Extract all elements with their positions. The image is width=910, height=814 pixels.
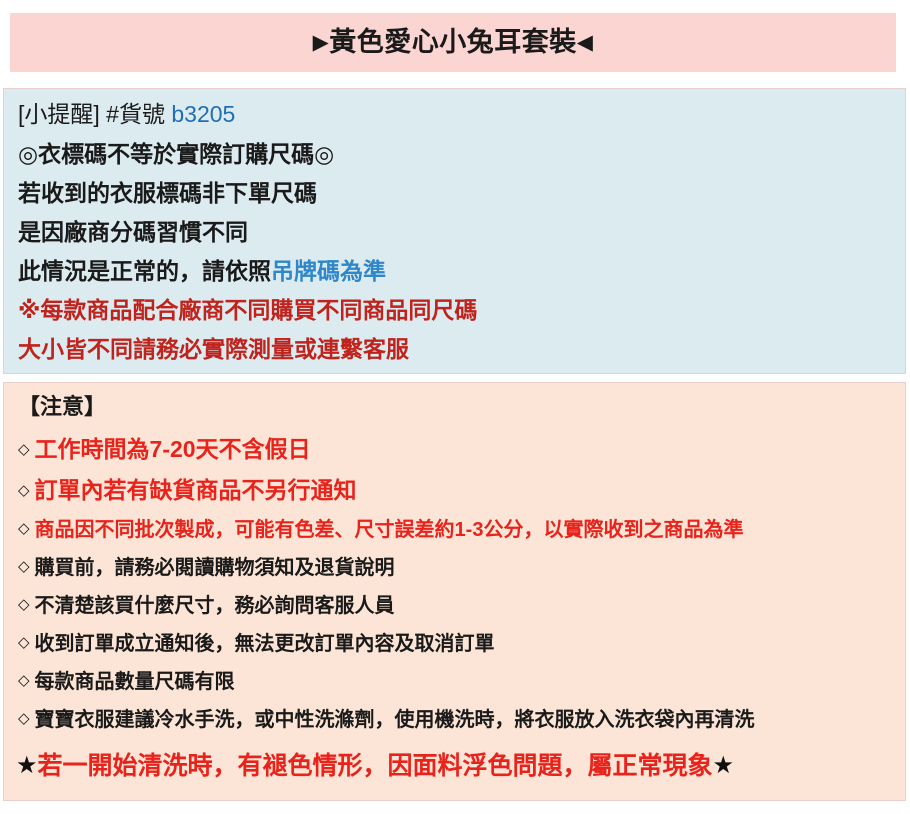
notice-line-hangtag: 此情況是正常的，請依照吊牌碼為準	[18, 260, 905, 283]
notice-line-same-size-warning: ※每款商品配合廠商不同購買不同商品同尺碼	[18, 299, 905, 322]
caution-panel: 【注意】 ◇工作時間為7-20天不含假日 ◇訂單內若有缺貨商品不另行通知 ◇商品…	[3, 382, 906, 801]
size-notice-panel: [小提醒] #貨號 b3205 ◎衣標碼不等於實際訂購尺碼◎ 若收到的衣服標碼非…	[3, 88, 906, 374]
product-info-page: ▶黃色愛心小兔耳套裝◀ [小提醒] #貨號 b3205 ◎衣標碼不等於實際訂購尺…	[0, 0, 910, 814]
caution-item-washing-instructions: ◇寶寶衣服建議冷水手洗，或中性洗滌劑，使用機洗時，將衣服放入洗衣袋內再清洗	[18, 710, 905, 730]
star-icon-left: ★	[16, 752, 38, 779]
notice-line-vendor-habit: 是因廠商分碼習慣不同	[18, 221, 905, 244]
caution-item-color-size-variance: ◇商品因不同批次製成，可能有色差、尺寸誤差約1-3公分，以實際收到之商品為準	[18, 520, 905, 540]
caution-item-read-policy: ◇購買前，請務必閱讀購物須知及退貨說明	[18, 558, 905, 578]
caution-item-limited-quantity: ◇每款商品數量尺碼有限	[18, 672, 905, 692]
caution-footer-text: 若一開始清洗時，有褪色情形，因面料浮色問題，屬正常現象	[38, 752, 713, 780]
sku-value: b3205	[171, 101, 235, 127]
caution-item-label: 不清楚該買什麼尺寸，務必詢問客服人員	[35, 595, 395, 617]
diamond-bullet-icon: ◇	[18, 596, 30, 613]
diamond-bullet-icon: ◇	[18, 520, 30, 537]
sku-line: [小提醒] #貨號 b3205	[18, 103, 905, 126]
caution-item-label: 商品因不同批次製成，可能有色差、尺寸誤差約1-3公分，以實際收到之商品為準	[35, 519, 744, 541]
caution-item-label: 工作時間為7-20天不含假日	[35, 436, 311, 462]
diamond-bullet-icon: ◇	[18, 672, 30, 689]
caution-item-no-modify-order: ◇收到訂單成立通知後，無法更改訂單內容及取消訂單	[18, 634, 905, 654]
caution-item-out-of-stock: ◇訂單內若有缺貨商品不另行通知	[18, 479, 905, 502]
diamond-bullet-icon: ◇	[18, 482, 30, 499]
page-title: ▶黃色愛心小兔耳套裝◀	[313, 29, 594, 56]
caution-item-label: 購買前，請務必閱讀購物須知及退貨說明	[35, 557, 395, 579]
star-icon-right: ★	[713, 752, 735, 779]
caution-item-label: 寶寶衣服建議冷水手洗，或中性洗滌劑，使用機洗時，將衣服放入洗衣袋內再清洗	[35, 709, 755, 731]
diamond-bullet-icon: ◇	[18, 634, 30, 651]
left-triangle-icon: ▶	[313, 31, 330, 54]
right-triangle-icon: ◀	[577, 31, 594, 54]
hangtag-prefix: 此情況是正常的，請依照	[18, 258, 271, 284]
page-title-text: 黃色愛心小兔耳套裝	[329, 27, 577, 57]
diamond-bullet-icon: ◇	[18, 558, 30, 575]
notice-line-label-size: ◎衣標碼不等於實際訂購尺碼◎	[18, 143, 905, 166]
caution-item-working-days: ◇工作時間為7-20天不含假日	[18, 438, 905, 461]
diamond-bullet-icon: ◇	[18, 710, 30, 727]
notice-line-measure-warning: 大小皆不同請務必實際測量或連繫客服	[18, 338, 905, 361]
caution-heading: 【注意】	[18, 396, 905, 418]
notice-line-received-label: 若收到的衣服標碼非下單尺碼	[18, 182, 905, 205]
hangtag-highlight: 吊牌碼為準	[271, 258, 386, 284]
caution-item-label: 收到訂單成立通知後，無法更改訂單內容及取消訂單	[35, 633, 495, 655]
caution-item-label: 訂單內若有缺貨商品不另行通知	[35, 477, 357, 503]
diamond-bullet-icon: ◇	[18, 441, 30, 458]
product-title-banner: ▶黃色愛心小兔耳套裝◀	[10, 13, 896, 72]
caution-item-ask-size: ◇不清楚該買什麼尺寸，務必詢問客服人員	[18, 596, 905, 616]
caution-footer-note: ★若一開始清洗時，有褪色情形，因面料浮色問題，屬正常現象★	[16, 754, 905, 779]
sku-label: [小提醒] #貨號	[18, 101, 165, 127]
caution-item-label: 每款商品數量尺碼有限	[35, 671, 235, 693]
